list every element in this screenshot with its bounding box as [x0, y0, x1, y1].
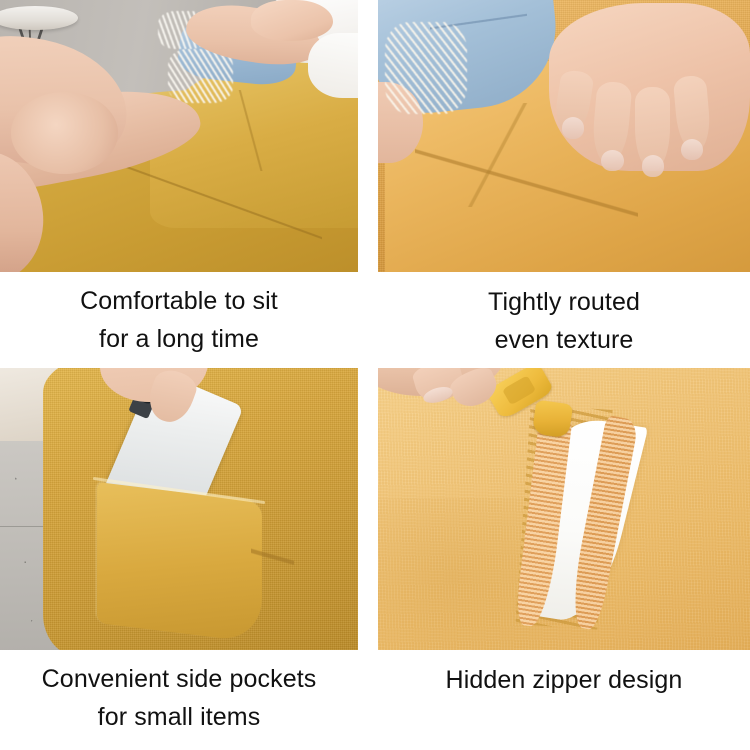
side-pocket: [97, 482, 262, 643]
caption-comfort-line-1: Comfortable to sit: [0, 282, 358, 320]
photo-comfortable-to-sit: [0, 0, 358, 272]
fingernail: [562, 117, 584, 139]
caption-texture-line-1: Tightly routed: [378, 283, 750, 321]
model-knee: [11, 92, 118, 174]
photo-side-pocket: [0, 368, 358, 650]
feature-panel-texture: Tightly routed even texture: [378, 0, 750, 365]
infographic-sheet: Comfortable to sit for a long time Tigh: [0, 0, 750, 750]
photo-hidden-zipper: [378, 368, 750, 650]
caption-zipper-line-1: Hidden zipper design: [378, 661, 750, 699]
caption-pocket-line-2: for small items: [0, 698, 358, 736]
feature-panel-pocket: Convenient side pockets for small items: [0, 368, 358, 750]
side-pocket-seam: [251, 493, 294, 633]
fingernail: [642, 155, 664, 177]
caption-texture: Tightly routed even texture: [378, 272, 750, 359]
feature-panel-comfort: Comfortable to sit for a long time: [0, 0, 358, 365]
photo-tightly-routed-texture: [378, 0, 750, 272]
model-hand: [251, 0, 333, 41]
caption-texture-line-2: even texture: [378, 321, 750, 359]
feature-panel-zipper: Hidden zipper design: [378, 368, 750, 750]
fingernail: [601, 150, 623, 172]
denim-fray-lower: [168, 49, 232, 103]
caption-pocket-line-1: Convenient side pockets: [0, 660, 358, 698]
caption-comfort-line-2: for a long time: [0, 320, 358, 358]
denim-fray: [385, 22, 467, 114]
caption-comfort: Comfortable to sit for a long time: [0, 272, 358, 358]
caption-pocket: Convenient side pockets for small items: [0, 650, 358, 736]
caption-zipper: Hidden zipper design: [378, 650, 750, 699]
